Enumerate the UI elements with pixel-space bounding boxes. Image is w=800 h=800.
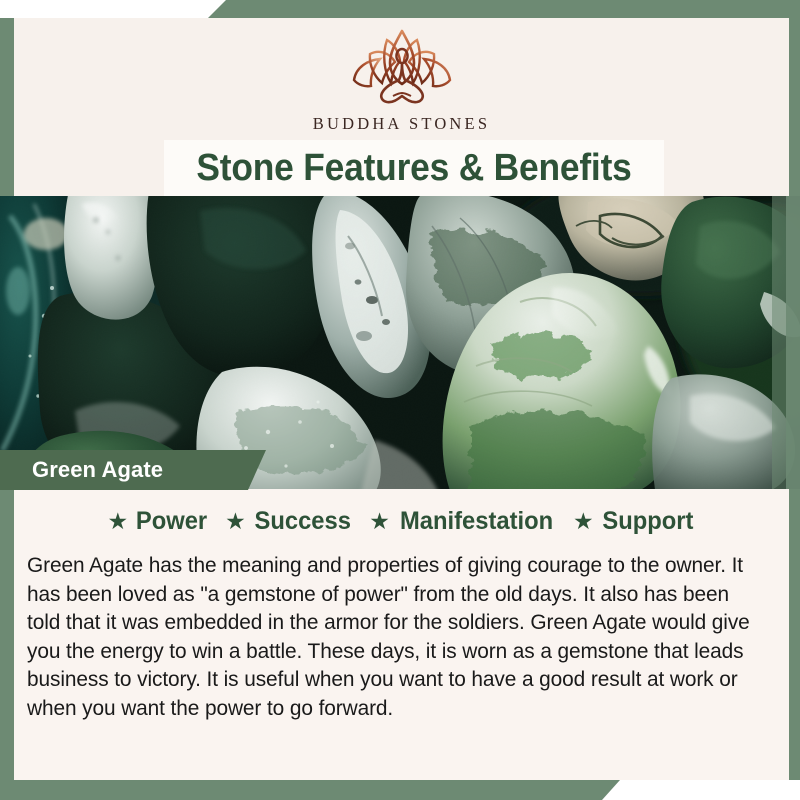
benefit-item-support: ★ Support [573, 507, 695, 536]
benefit-item-power: ★ Power [108, 507, 210, 536]
star-icon: ★ [369, 510, 390, 533]
stone-features-infographic: BUDDHA STONES Stone Features & Benefits [0, 0, 800, 800]
benefit-item-manifestation: ★ Manifestation [369, 507, 557, 536]
green-agate-tumbled-stones-photo [0, 196, 800, 489]
brand-block: BUDDHA STONES [14, 26, 789, 134]
top-green-decoration [0, 0, 800, 18]
stone-description: Green Agate has the meaning and properti… [27, 551, 756, 722]
star-icon: ★ [573, 510, 594, 533]
star-icon: ★ [108, 510, 129, 533]
body-panel: ★ Power ★ Success ★ Manifestation ★ Supp… [14, 489, 789, 780]
star-icon: ★ [225, 510, 246, 533]
title-plate: Stone Features & Benefits [164, 140, 664, 196]
bottom-green-decoration [0, 780, 800, 800]
benefit-item-success: ★ Success [225, 507, 353, 536]
benefit-label: Success [254, 507, 350, 536]
benefit-label: Manifestation [400, 507, 553, 536]
benefit-label: Power [136, 507, 207, 536]
benefits-list: ★ Power ★ Success ★ Manifestation ★ Supp… [14, 507, 789, 536]
stone-name-banner: Green Agate [0, 450, 266, 490]
benefit-label: Support [602, 507, 693, 536]
brand-name: BUDDHA STONES [313, 114, 490, 134]
header: BUDDHA STONES Stone Features & Benefits [14, 18, 789, 196]
lotus-meditation-icon [346, 26, 458, 112]
page-title: Stone Features & Benefits [196, 147, 631, 190]
stone-name-label: Green Agate [32, 457, 163, 483]
